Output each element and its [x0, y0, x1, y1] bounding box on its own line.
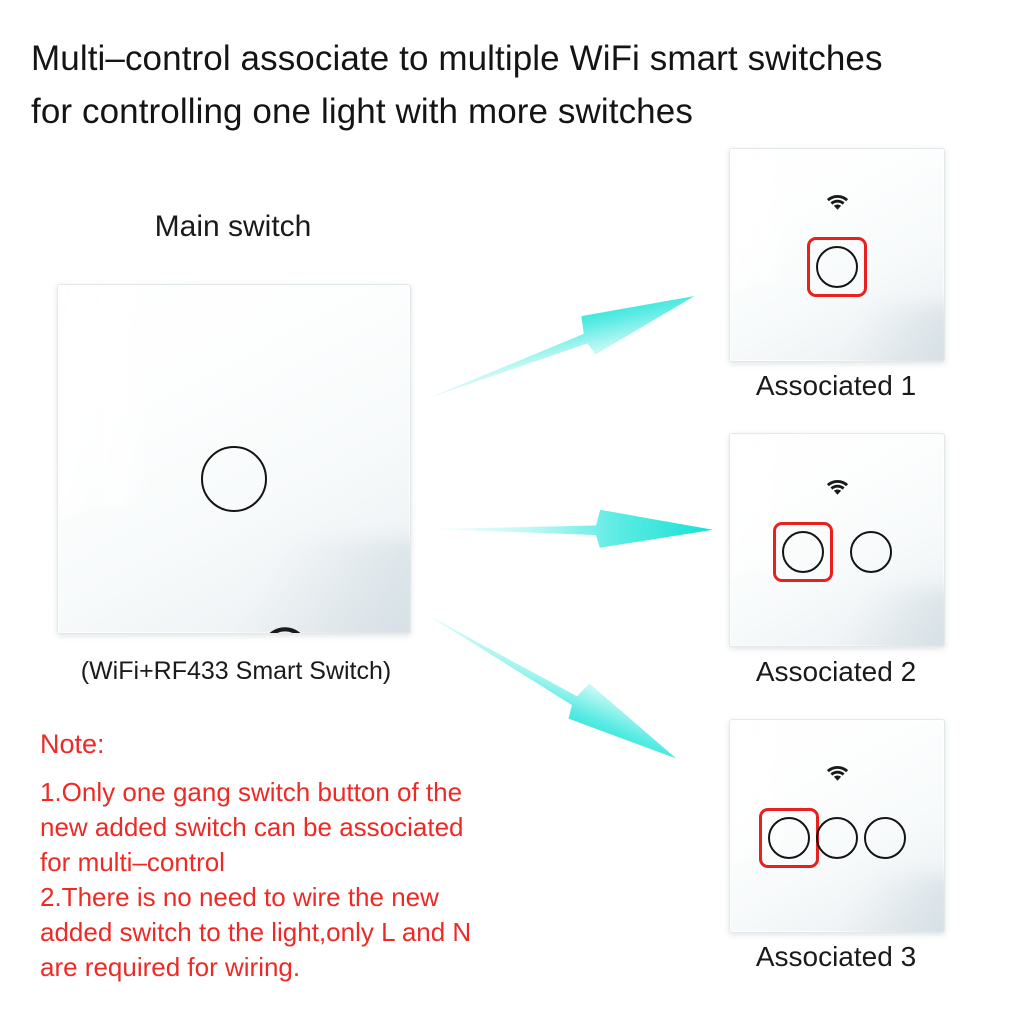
wifi-icon [826, 477, 849, 495]
associated-2-gang-2[interactable] [850, 531, 892, 573]
product-infographic: Multi–control associate to multiple WiFi… [0, 0, 1024, 1024]
associated-3-gang-3[interactable] [864, 817, 906, 859]
main-switch-title: Main switch [57, 210, 409, 244]
associated-2-button-row [730, 531, 944, 573]
glass-shading [837, 875, 945, 933]
associated-1-caption: Associated 1 [700, 370, 972, 402]
associated-2-gang-1-selected[interactable] [782, 531, 824, 573]
associated-1-button-row [730, 246, 944, 288]
wifi-icon [826, 763, 849, 781]
glass-reflection-streak [729, 719, 909, 823]
arrow-to-associated-2 [428, 508, 713, 549]
associated-switch-2-panel[interactable] [729, 433, 945, 647]
touch-button-circle[interactable] [850, 531, 892, 573]
arrow-to-associated-1 [420, 277, 701, 415]
main-switch-button-row [58, 285, 410, 633]
touch-button-circle[interactable] [768, 817, 810, 859]
page-title: Multi–control associate to multiple WiFi… [31, 32, 1011, 138]
glass-shading [837, 304, 945, 362]
touch-button-circle[interactable] [782, 531, 824, 573]
wifi-icon [826, 192, 849, 210]
touch-button-circle[interactable] [816, 246, 858, 288]
arrow-to-associated-3 [420, 596, 686, 776]
touch-button-circle[interactable] [864, 817, 906, 859]
main-switch-gang-1[interactable] [201, 406, 267, 512]
associated-1-gang-1-selected[interactable] [816, 246, 858, 288]
main-switch-panel[interactable] [57, 284, 411, 634]
associated-3-caption: Associated 3 [700, 941, 972, 973]
glass-shading [837, 589, 945, 647]
associated-3-button-row [730, 817, 944, 859]
associated-2-caption: Associated 2 [700, 656, 972, 688]
note-body: 1.Only one gang switch button of the new… [40, 775, 560, 985]
associated-switch-1-panel[interactable] [729, 148, 945, 362]
touch-button-circle[interactable] [201, 446, 267, 512]
touch-button-circle[interactable] [816, 817, 858, 859]
main-switch-caption: (WiFi+RF433 Smart Switch) [50, 657, 422, 686]
associated-switch-3-panel[interactable] [729, 719, 945, 933]
associated-3-gang-1-selected[interactable] [768, 817, 810, 859]
note-title: Note: [40, 729, 105, 760]
associated-3-gang-2[interactable] [816, 817, 858, 859]
